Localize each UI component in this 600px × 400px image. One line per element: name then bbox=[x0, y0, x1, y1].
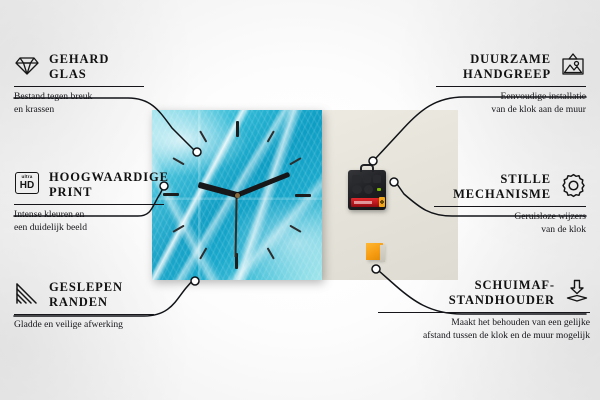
feature-description: Intense kleuren en een duidelijk beeld bbox=[14, 209, 174, 233]
feature-title: STILLE MECHANISME bbox=[453, 172, 551, 202]
feature-divider bbox=[14, 204, 164, 205]
feature-geslepen-randen: GESLEPEN RANDEN Gladde en veilige afwerk… bbox=[14, 280, 164, 332]
callout-dot-schuimafstandhouder bbox=[372, 265, 380, 273]
feature-duurzame-handgreep: DUURZAME HANDGREEP Eenvoudige installati… bbox=[426, 52, 586, 116]
feature-gehard-glas: GEHARD GLAS Bestand tegen breuk en krass… bbox=[14, 52, 154, 116]
feature-title: GEHARD GLAS bbox=[49, 52, 109, 82]
hanging-picture-frame-icon bbox=[560, 52, 586, 78]
feature-title: HOOGWAARDIGE PRINT bbox=[49, 170, 169, 200]
feature-divider bbox=[434, 206, 586, 207]
bevelled-edges-icon bbox=[14, 280, 40, 306]
feature-divider bbox=[436, 86, 586, 87]
feature-divider bbox=[14, 86, 144, 87]
feature-divider bbox=[378, 312, 590, 313]
feature-description: Geruisloze wijzers van de klok bbox=[426, 211, 586, 235]
feature-title: DUURZAME HANDGREEP bbox=[463, 52, 551, 82]
product-infographic: GEHARD GLAS Bestand tegen breuk en krass… bbox=[0, 0, 600, 400]
ultra-hd-icon-large-text: HD bbox=[20, 181, 34, 191]
feature-description: Maakt het behouden van een gelijke afsta… bbox=[370, 317, 590, 341]
callout-dot-duurzame-handgreep bbox=[369, 157, 377, 165]
feature-schuimafstandhouder: SCHUIMAF- STANDHOUDER Maakt het behouden… bbox=[370, 278, 590, 342]
callout-dot-stille-mechanisme bbox=[390, 178, 398, 186]
diamond-icon bbox=[14, 52, 40, 78]
feature-stille-mechanisme: STILLE MECHANISME Geruisloze wijzers van… bbox=[426, 172, 586, 236]
callout-dot-gehard-glas bbox=[193, 148, 201, 156]
feature-divider bbox=[14, 314, 154, 315]
feature-description: Eenvoudige installatie van de klok aan d… bbox=[426, 91, 586, 115]
foam-spacer-arrow-icon bbox=[564, 278, 590, 304]
feature-hoogwaardige-print: ultra HD HOOGWAARDIGE PRINT Intense kleu… bbox=[14, 170, 174, 234]
callout-dot-geslepen-randen bbox=[191, 277, 199, 285]
gear-icon bbox=[560, 172, 586, 198]
feature-title: SCHUIMAF- STANDHOUDER bbox=[449, 278, 555, 308]
feature-description: Gladde en veilige afwerking bbox=[14, 319, 164, 331]
feature-description: Bestand tegen breuk en krassen bbox=[14, 91, 154, 115]
ultra-hd-icon: ultra HD bbox=[14, 170, 40, 196]
feature-title: GESLEPEN RANDEN bbox=[49, 280, 123, 310]
